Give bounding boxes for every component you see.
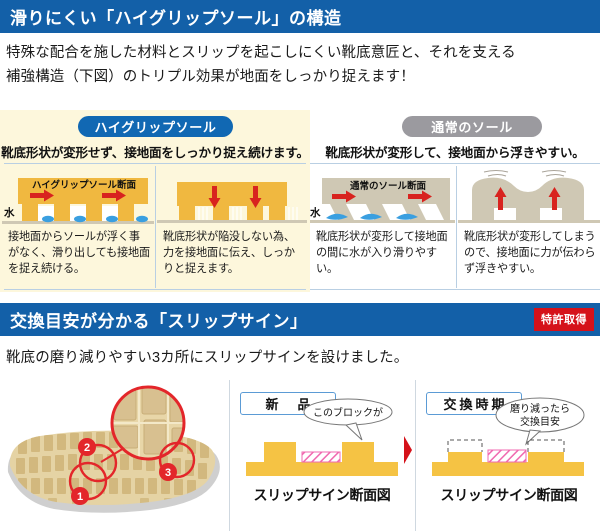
bubble-replace-line1: 磨り減ったら [510,402,570,415]
caption-normal-lift: 靴底形状が変形してしまうので、接地面に力が伝わらず浮きやすい。 [464,230,598,278]
high-grip-subtitle: 靴底形状が変形せず、接地面をしっかり捉え続けます。 [0,142,310,161]
pill-high-grip-label: ハイグリップソール [95,117,217,136]
caption-high-grip-shear: 接地面からソールが浮く事がなく、滑り出しても接地面を捉え続ける。 [8,230,150,278]
diagram-new-product: 新 品 このブロックが [232,380,412,531]
high-grip-shear-svg: ハイグリップソール断面 水 [2,166,154,228]
caption-high-grip-compression: 靴底形状が陥没しない為、力を接地面に伝え、しっかりと捉えます。 [163,230,303,278]
diagram-new-caption: スリップサイン断面図 [232,485,412,505]
normal-lift-svg [458,166,600,228]
slipsign-illustration-row: 1 2 3 新 品 [0,380,600,531]
shoe-sole-svg: 1 2 3 [0,380,228,531]
product-info-page: 滑りにくい「ハイグリップソール」の構造 特殊な配合を施した材料とスリップを起こし… [0,0,600,531]
pill-normal-sole: 通常のソール [402,116,542,137]
high-grip-compression-svg [157,166,307,228]
shoe-sole-illustration: 1 2 3 [0,380,228,531]
diagram-replace-svg: 磨り減ったら 交換目安 [418,388,600,498]
pill-normal-label: 通常のソール [431,117,513,136]
figure-high-grip-shear: ハイグリップソール断面 水 [2,166,154,228]
figure-normal-lift [458,166,600,228]
normal-section-label: 通常のソール断面 [350,180,427,192]
cell-high-grip-shear: ハイグリップソール断面 水 接地面からソールが浮く事がなく、滑り出しても接地面を… [2,166,154,292]
bubble-replace-line2: 交換目安 [520,415,560,428]
panel-high-grip: ハイグリップソール 靴底形状が変形せず、接地面をしっかり捉え続けます。 [0,110,310,292]
divider-high-grip-mid [155,166,156,288]
slipsign-lead-line1: 靴底の磨り減りやすい3カ所にスリップサインを設けました。 [6,347,408,370]
section-title-structure: 滑りにくい「ハイグリップソール」の構造 [10,4,341,29]
divider-diagram-diagram [415,380,416,531]
divider-shoe-diagram [229,380,230,531]
pill-high-grip-sole: ハイグリップソール [78,116,233,137]
caption-normal-shear: 靴底形状が変形して接地面の間に水が入り滑りやすい。 [316,230,451,278]
normal-subtitle: 靴底形状が変形して、接地面から浮きやすい。 [310,142,600,161]
figure-high-grip-compression [157,166,307,228]
figure-normal-shear: 通常のソール断面 水 [310,166,455,228]
water-label-good: 水 [3,206,15,219]
divider-high-grip-top [4,163,306,164]
divider-normal-mid [456,166,457,288]
bubble-this-block: このブロックが [304,399,392,440]
cell-normal-lift: 靴底形状が変形してしまうので、接地面に力が伝わらず浮きやすい。 [458,166,600,292]
diagram-replace-caption: スリップサイン断面図 [418,485,600,505]
slip-sign-indicator-worn [488,450,526,462]
normal-shear-svg: 通常のソール断面 水 [310,166,455,228]
section-title-slipsign: 交換目安が分かる「スリップサイン」 [10,307,308,332]
slip-sign-indicator-new [302,452,340,462]
panel-normal-sole: 通常のソール 靴底形状が変形して、接地面から浮きやすい。 [310,110,600,292]
patent-badge: 特許取得 [534,308,594,331]
structure-lead-line1: 特殊な配合を施した材料とスリップを起こしにくい靴底意匠と、それを支える [6,42,516,65]
cell-normal-shear: 通常のソール断面 水 靴底形状が変形して接地面の間に水が入り滑りやすい。 [310,166,455,292]
section-header-slipsign: 交換目安が分かる「スリップサイン」 特許取得 [0,303,600,336]
sole-comparison: ハイグリップソール 靴底形状が変形せず、接地面をしっかり捉え続けます。 [0,110,600,292]
sole-marker-3-label: 3 [165,467,171,479]
water-label-normal: 水 [310,206,321,219]
bubble-worn-out: 磨り減ったら 交換目安 [496,398,584,444]
diagram-new-svg: このブロックが [232,388,412,498]
sole-marker-2-label: 2 [84,442,90,454]
structure-lead-line2: 補強構造（下図）のトリプル効果が地面をしっかり捉えます！ [6,66,415,89]
section-header-structure: 滑りにくい「ハイグリップソール」の構造 [0,0,600,33]
sole-marker-1-label: 1 [77,491,83,503]
high-grip-section-label: ハイグリップソール断面 [32,179,137,191]
cell-high-grip-compression: 靴底形状が陥没しない為、力を接地面に伝え、しっかりと捉えます。 [157,166,307,292]
progress-arrow-icon [404,436,412,464]
bubble-new-text: このブロックが [313,406,383,419]
divider-normal-top [310,163,600,164]
diagram-replacement-time: 交換時期 磨り減ったら 交換目安 [418,380,600,531]
